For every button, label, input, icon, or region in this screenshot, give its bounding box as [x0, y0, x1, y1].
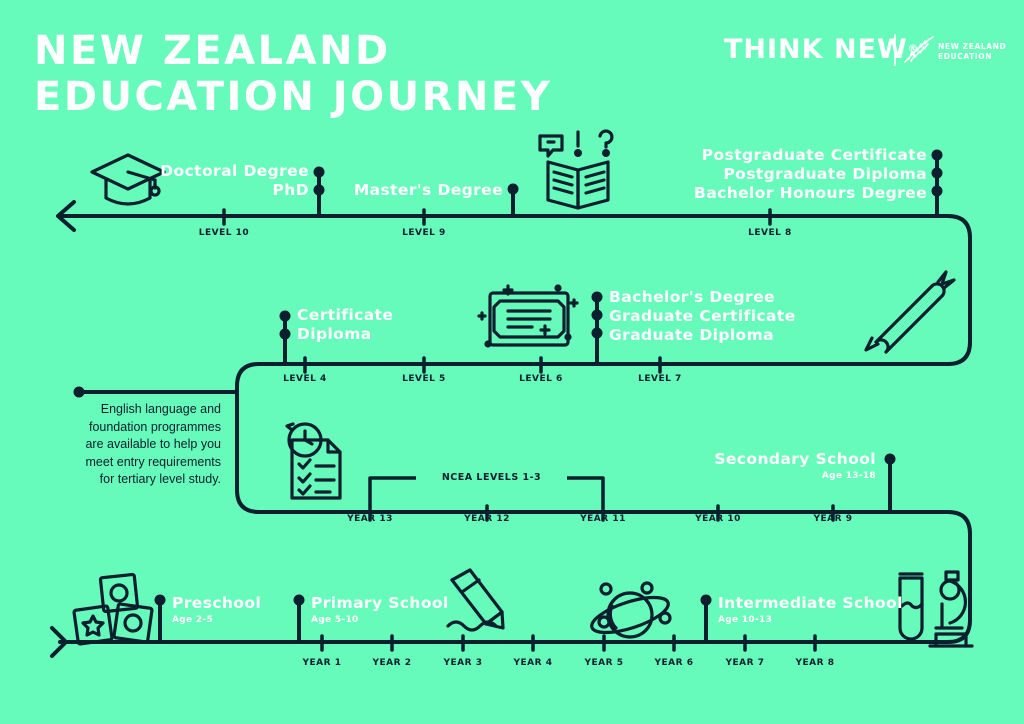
tick-label-level-6: LEVEL 6: [491, 374, 591, 384]
brand-lockup: THINK NEW®: [724, 34, 919, 65]
tick-label-year-12: YEAR 12: [437, 514, 537, 524]
node-label-intermediate-school: Intermediate School: [718, 594, 938, 613]
node-age-secondary-school: Age 13-18: [660, 471, 876, 481]
brand-wordmark: THINK NEW: [724, 34, 908, 65]
node-label-certificate-diploma: Certificate Diploma: [297, 306, 497, 344]
ncea-bracket-label: NCEA LEVELS 1-3: [416, 472, 567, 483]
tick-label-year-10: YEAR 10: [668, 514, 768, 524]
tick-label-level-9: LEVEL 9: [374, 228, 474, 238]
tick-label-year-11: YEAR 11: [553, 514, 653, 524]
silver-fern-icon: [902, 32, 936, 66]
node-age-primary-school: Age 5-10: [311, 615, 511, 625]
toy-blocks-icon: [74, 574, 152, 644]
node-label-secondary-school: Secondary School: [660, 450, 876, 469]
logo-caption: NEW ZEALAND EDUCATION: [938, 42, 1006, 61]
tick-label-year-13: YEAR 13: [320, 514, 420, 524]
tick-label-level-7: LEVEL 7: [610, 374, 710, 384]
node-label-level8-group: Postgraduate Certificate Postgraduate Di…: [667, 146, 927, 203]
node-label-bachelors-group: Bachelor's Degree Graduate Certificate G…: [609, 288, 849, 345]
left-arrowhead: [58, 202, 74, 230]
node-label-doctoral-degree: Doctoral Degree PhD: [119, 162, 309, 200]
open-book-icon: [540, 131, 612, 208]
diploma-scroll-icon: [866, 272, 954, 352]
tick-label-level-8: LEVEL 8: [720, 228, 820, 238]
node-label-primary-school: Primary School: [311, 594, 511, 613]
node-label-masters-degree: Master's Degree: [343, 181, 503, 200]
tick-label-year-8: YEAR 8: [765, 658, 865, 668]
checklist-clock-icon: [287, 424, 340, 498]
tick-label-level-5: LEVEL 5: [374, 374, 474, 384]
tick-label-level-4: LEVEL 4: [255, 374, 355, 384]
node-age-intermediate-school: Age 10-13: [718, 615, 938, 625]
planet-icon: [588, 583, 672, 640]
logo-divider: [894, 34, 896, 66]
tick-label-year-9: YEAR 9: [783, 514, 883, 524]
infographic-canvas: NEW ZEALAND EDUCATION JOURNEY THINK NEW®…: [0, 0, 1024, 724]
bottom-chevron: [52, 628, 66, 656]
page-title: NEW ZEALAND EDUCATION JOURNEY: [34, 28, 552, 120]
tick-label-level-10: LEVEL 10: [174, 228, 274, 238]
english-language-note: English language and foundation programm…: [56, 401, 221, 489]
